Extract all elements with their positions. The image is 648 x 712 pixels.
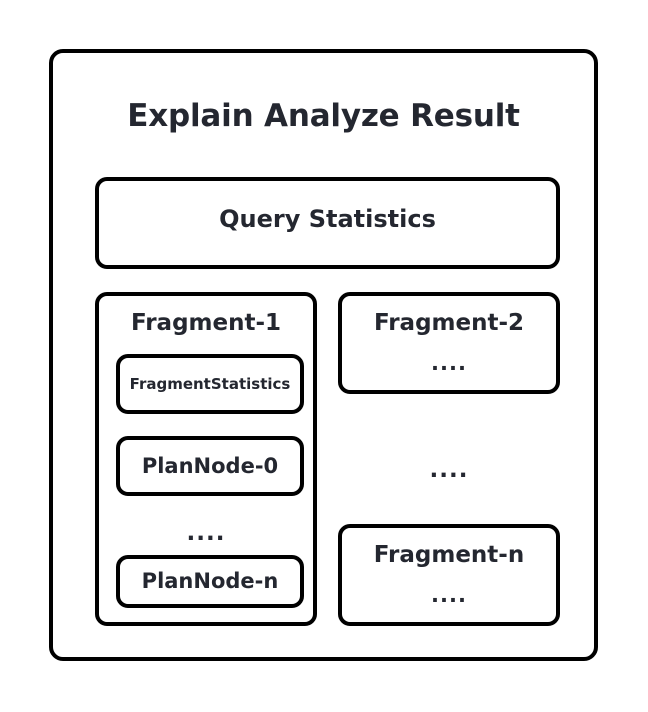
page-title: Explain Analyze Result xyxy=(53,101,594,132)
fragment-2-ellipsis: .... xyxy=(342,353,556,374)
fragment-n-ellipsis: .... xyxy=(342,585,556,606)
fragment-2-box: Fragment-2 .... xyxy=(338,292,560,394)
explain-analyze-result-container: Explain Analyze Result Query Statistics … xyxy=(49,49,598,661)
fragment-statistics-label: FragmentStatistics xyxy=(130,377,291,392)
query-statistics-label: Query Statistics xyxy=(99,207,556,231)
fragment-statistics-box: FragmentStatistics xyxy=(116,354,304,414)
plan-node-n-label: PlanNode-n xyxy=(142,571,279,592)
fragment-n-title: Fragment-n xyxy=(342,544,556,567)
fragment-1-box: Fragment-1 FragmentStatistics PlanNode-0… xyxy=(95,292,317,626)
fragment-1-title: Fragment-1 xyxy=(99,312,313,335)
fragment-2-title: Fragment-2 xyxy=(342,312,556,335)
fragment-n-box: Fragment-n .... xyxy=(338,524,560,626)
plan-node-ellipsis: .... xyxy=(99,522,313,545)
fragments-ellipsis: .... xyxy=(338,459,560,482)
plan-node-0-box: PlanNode-0 xyxy=(116,436,304,496)
diagram-canvas: Explain Analyze Result Query Statistics … xyxy=(0,0,648,712)
plan-node-0-label: PlanNode-0 xyxy=(142,456,278,477)
additional-fragments-column: Fragment-2 .... .... Fragment-n .... xyxy=(338,292,560,626)
plan-node-n-box: PlanNode-n xyxy=(116,555,304,608)
fragments-area: Fragment-1 FragmentStatistics PlanNode-0… xyxy=(95,292,560,626)
query-statistics-box: Query Statistics xyxy=(95,177,560,269)
